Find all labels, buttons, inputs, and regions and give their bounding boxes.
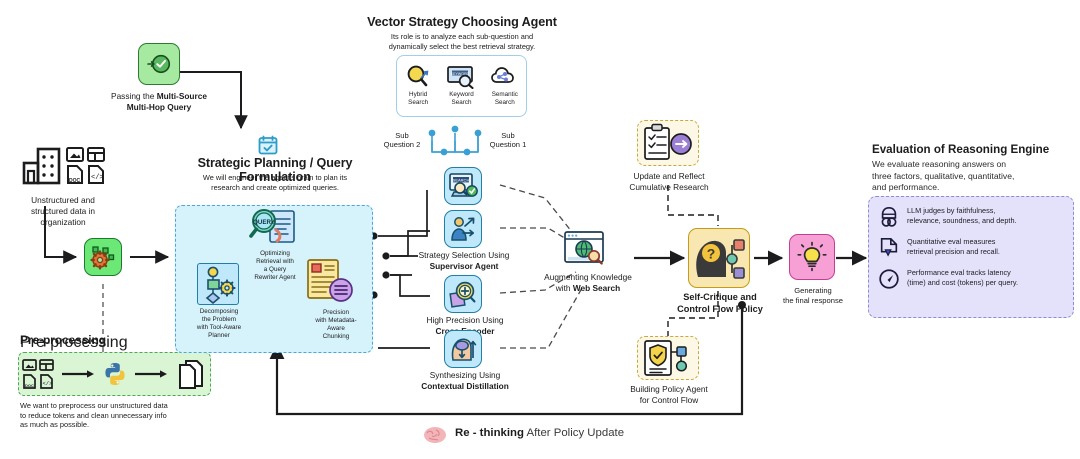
pa-l2: for Control Flow bbox=[640, 395, 699, 405]
hs-l1: Hybrid bbox=[409, 91, 427, 98]
ur-l1: Update and Reflect bbox=[633, 171, 704, 181]
keyword-search-icon: KEYWORD bbox=[446, 65, 476, 89]
evaluation-subtitle: We evaluate reasoning answers on three f… bbox=[872, 159, 1080, 194]
sq2-l2: Question 2 bbox=[384, 140, 421, 149]
planning-sub-1: We will engineer the agent's brain to pl… bbox=[203, 173, 347, 182]
planning-subtitle: We will engineer the agent's brain to pl… bbox=[170, 173, 380, 192]
planning-node-2-label: Decomposing the Problem with Tool-Aware … bbox=[188, 308, 250, 340]
ev2-l2: retrieval precision and recall. bbox=[907, 247, 1000, 256]
svg-text:QUERY: QUERY bbox=[253, 219, 276, 226]
ev-sub-2: three factors, qualitative, quantitative… bbox=[872, 171, 1014, 181]
org-caption-1: Unstructured and bbox=[31, 195, 95, 205]
svg-text:DOC: DOC bbox=[25, 383, 34, 388]
pn3-l3: Aware bbox=[327, 325, 345, 332]
brain-icon bbox=[422, 425, 448, 445]
sc-l1: Self-Critique and bbox=[683, 292, 757, 302]
query-magnifier-document-icon: QUERY bbox=[248, 208, 300, 248]
pn3-l4: Chunking bbox=[323, 333, 350, 340]
update-reflect-label: Update and Reflect Cumulative Research bbox=[613, 171, 725, 193]
lightbulb-idea-icon bbox=[796, 241, 828, 273]
gear-processing-tile bbox=[84, 238, 122, 276]
sub-question-2-label: Sub Question 2 bbox=[377, 131, 427, 150]
preprocessing-panel: DOC </> bbox=[18, 352, 211, 396]
ev1-l1: LLM judges by faithfulness, bbox=[907, 206, 995, 215]
sq1-l2: Question 1 bbox=[490, 140, 527, 149]
documents-stack-icon bbox=[175, 358, 207, 390]
hs-l2: Search bbox=[408, 99, 428, 106]
search-verified-icon: SEARCH bbox=[448, 172, 478, 200]
multi-hop-query-icon-tile bbox=[138, 43, 180, 85]
doc-file-icon: DOC bbox=[68, 166, 82, 184]
evaluation-title: Evaluation of Reasoning Engine bbox=[872, 143, 1049, 156]
pn1-l1: Optimizing bbox=[260, 250, 290, 257]
strategy-semantic-search[interactable]: Semantic Search bbox=[485, 65, 525, 107]
pn3-l2: with Metadata- bbox=[315, 317, 356, 324]
eval-row-1-text: LLM judges by faithfulness, relevance, s… bbox=[907, 206, 1017, 226]
sub-question-1-label: Sub Question 1 bbox=[482, 131, 534, 150]
va-sub-2: dynamically select the best retrieval st… bbox=[389, 42, 536, 51]
eval-row-quantitative: Quantitative eval measures retrieval pre… bbox=[878, 237, 1065, 259]
generate-response-tile bbox=[789, 234, 835, 280]
pn1-l3: a Query bbox=[264, 266, 286, 273]
judge-persons-icon bbox=[878, 206, 900, 228]
sq2-l1: Sub bbox=[395, 131, 409, 140]
ks-l1: Keyword bbox=[449, 91, 474, 98]
query-caption-bold2: Multi-Hop Query bbox=[127, 102, 192, 112]
sq1-l1: Sub bbox=[501, 131, 515, 140]
contextual-distillation-label: Synthesizing Using Contextual Distillati… bbox=[398, 370, 532, 392]
gear-processing-icon bbox=[90, 244, 116, 270]
ev2-l1: Quantitative eval measures bbox=[907, 237, 995, 246]
query-caption-plain: Passing the bbox=[111, 91, 157, 101]
vector-agent-subtitle: Its role is to analyze each sub-question… bbox=[356, 32, 568, 51]
metadata-chunking-icon bbox=[306, 258, 356, 306]
web-search-label: Augmenting Knowledge with Web Search bbox=[532, 272, 644, 294]
vector-agent-title: Vector Strategy Choosing Agent bbox=[360, 15, 564, 29]
semantic-search-icon bbox=[491, 65, 519, 89]
preproc-note-3: as much as possible. bbox=[20, 420, 89, 429]
ce-plain: High Precision Using bbox=[426, 315, 503, 325]
ws-bold: Web Search bbox=[573, 283, 620, 293]
contextual-distillation-tile bbox=[444, 330, 482, 368]
self-critique-label: Self-Critique and Control Flow Policy bbox=[666, 292, 774, 316]
code-file-icon: </> bbox=[89, 166, 104, 183]
image-file-icon bbox=[67, 148, 83, 161]
check-circle-arrow-icon bbox=[146, 51, 172, 77]
svg-text:?: ? bbox=[707, 246, 716, 262]
cd-plain: Synthesizing Using bbox=[430, 370, 501, 380]
diagram-canvas: Passing the Multi-Source Multi-Hop Query bbox=[0, 0, 1080, 459]
org-caption-2: structured data in bbox=[31, 206, 95, 216]
pn1-l4: Rewriter Agent bbox=[254, 274, 295, 281]
ur-l2: Cumulative Research bbox=[629, 182, 708, 192]
office-building-icon bbox=[24, 149, 59, 183]
eval-row-3-text: Performance eval tracks latency (time) a… bbox=[907, 268, 1018, 288]
policy-agent-tile bbox=[637, 336, 699, 380]
preprocessing-heading: Pre-processing bbox=[20, 333, 106, 347]
ev1-l2: relevance, soundness, and depth. bbox=[907, 216, 1017, 225]
rethink-plain: After Policy Update bbox=[527, 427, 625, 439]
ss-l1: Semantic bbox=[492, 91, 518, 98]
supervisor-agent-label: Strategy Selection Using Supervisor Agen… bbox=[406, 250, 522, 272]
ks-l2: Search bbox=[452, 99, 472, 106]
preproc-note-2: to reduce tokens and clean unnecessary i… bbox=[20, 411, 167, 420]
va-sub-1: Its role is to analyze each sub-question… bbox=[391, 32, 533, 41]
eval-row-2-text: Quantitative eval measures retrieval pre… bbox=[907, 237, 1000, 257]
table-file-icon bbox=[88, 148, 104, 161]
preproc-arrow-1 bbox=[61, 368, 97, 380]
rethink-bold: Re - thinking bbox=[455, 427, 524, 439]
clipboard-arrow-icon bbox=[639, 122, 697, 164]
pn2-l1: Decomposing bbox=[200, 308, 239, 315]
evaluation-panel: LLM judges by faithfulness, relevance, s… bbox=[868, 196, 1074, 318]
hybrid-search-label: Hybrid Search bbox=[408, 91, 428, 107]
hybrid-search-icon bbox=[405, 65, 431, 89]
vector-strategy-panel: Hybrid Search KEYWORD Keyword Search bbox=[396, 55, 527, 117]
org-data-caption: Unstructured and structured data in orga… bbox=[5, 195, 121, 228]
query-caption-bold1: Multi-Source bbox=[157, 91, 207, 101]
semantic-search-label: Semantic Search bbox=[492, 91, 518, 107]
supervisor-agent-icon bbox=[449, 215, 477, 243]
web-search-tile bbox=[563, 230, 609, 268]
speedometer-icon bbox=[878, 268, 900, 290]
policy-agent-label: Building Policy Agent for Control Flow bbox=[610, 384, 728, 406]
strategy-keyword-search[interactable]: KEYWORD Keyword Search bbox=[440, 65, 482, 107]
planning-node-1-label: Optimizing Retrieval with a Query Rewrit… bbox=[242, 250, 308, 282]
ev-sub-1: We evaluate reasoning answers on bbox=[872, 159, 1006, 169]
strategy-hybrid-search[interactable]: Hybrid Search bbox=[398, 65, 438, 107]
shield-policy-flow-icon bbox=[639, 338, 697, 378]
python-logo-icon bbox=[102, 361, 128, 387]
pn2-l3: with Tool-Aware bbox=[197, 324, 241, 331]
org-data-icons: DOC </> bbox=[18, 143, 108, 193]
question-head-flow-icon: ? bbox=[692, 233, 746, 283]
svg-text:</>: </> bbox=[42, 380, 52, 387]
sc-l2: Control Flow Policy bbox=[677, 304, 763, 314]
browser-globe-search-icon bbox=[563, 230, 609, 268]
document-gem-icon bbox=[878, 237, 900, 259]
query-node-caption: Passing the Multi-Source Multi-Hop Query bbox=[93, 91, 225, 113]
update-reflect-tile bbox=[637, 120, 699, 166]
pa-l1: Building Policy Agent bbox=[630, 384, 708, 394]
contextual-distillation-icon bbox=[449, 335, 477, 363]
keyword-search-label: Keyword Search bbox=[449, 91, 474, 107]
pn2-l2: the Problem bbox=[202, 316, 236, 323]
pn1-l2: Retrieval with bbox=[256, 258, 294, 265]
preproc-note-1: We want to preprocess our unstructured d… bbox=[20, 401, 168, 410]
generate-response-label: Generating the final response bbox=[772, 286, 854, 306]
sa-bold: Supervisor Agent bbox=[430, 261, 499, 271]
ev3-l1: Performance eval tracks latency bbox=[907, 268, 1011, 277]
svg-text:</>: </> bbox=[91, 174, 104, 182]
planning-sub-2: research and create optimized queries. bbox=[211, 183, 339, 192]
preproc-file-icons: DOC </> bbox=[22, 358, 56, 390]
ss-l2: Search bbox=[495, 99, 515, 106]
planning-node-3-label: Precision with Metadata- Aware Chunking bbox=[306, 309, 366, 341]
svg-text:DOC: DOC bbox=[69, 178, 81, 184]
search-verified-tile: SEARCH bbox=[444, 167, 482, 205]
pn2-l4: Planner bbox=[208, 332, 230, 339]
cross-encoder-icon bbox=[449, 280, 477, 308]
cross-encoder-tile bbox=[444, 275, 482, 313]
ws-prefix: with bbox=[556, 283, 573, 293]
pn3-l1: Precision bbox=[323, 309, 349, 316]
svg-text:SEARCH: SEARCH bbox=[453, 178, 470, 183]
org-caption-3: organization bbox=[40, 217, 85, 227]
supervisor-agent-tile bbox=[444, 210, 482, 248]
self-critique-tile: ? bbox=[688, 228, 750, 288]
ev3-l2: (time) and cost (tokens) per query. bbox=[907, 278, 1018, 287]
cd-bold: Contextual Distillation bbox=[421, 381, 509, 391]
rethinking-label: Re - thinking After Policy Update bbox=[455, 427, 624, 439]
gen-l1: Generating bbox=[794, 286, 832, 295]
ws-plain: Augmenting Knowledge bbox=[544, 272, 632, 282]
preprocessing-note: We want to preprocess our unstructured d… bbox=[20, 401, 230, 430]
preproc-arrow-2 bbox=[134, 368, 170, 380]
gen-l2: the final response bbox=[783, 296, 843, 305]
eval-row-llm-judge: LLM judges by faithfulness, relevance, s… bbox=[878, 206, 1065, 228]
eval-row-performance: Performance eval tracks latency (time) a… bbox=[878, 268, 1065, 290]
sa-plain: Strategy Selection Using bbox=[419, 250, 510, 260]
calendar-check-icon bbox=[258, 135, 278, 155]
ev-sub-3: and performance. bbox=[872, 182, 939, 192]
flow-planner-gear-icon bbox=[197, 263, 239, 305]
